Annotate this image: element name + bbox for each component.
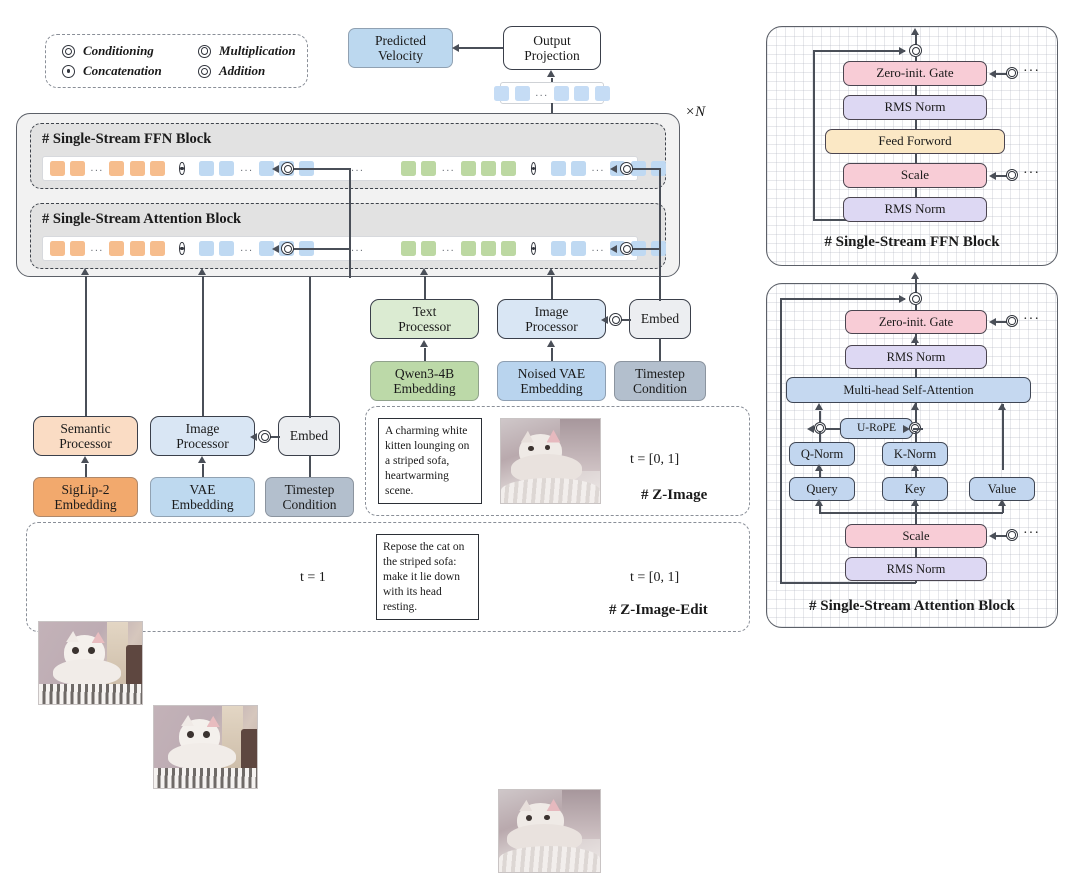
conditioning-symbol xyxy=(609,313,622,326)
ffn-residual-arrowhead xyxy=(899,47,906,55)
attn-rms-norm-top-label: RMS Norm xyxy=(887,350,946,364)
token xyxy=(571,161,586,176)
token-ellipsis: ... xyxy=(240,243,253,254)
token xyxy=(574,86,589,101)
token xyxy=(551,241,566,256)
legend-item-conditioning: Conditioning xyxy=(62,43,154,59)
concatenation-symbol xyxy=(62,65,75,78)
vae-line1: VAE xyxy=(189,482,215,497)
attn-arrow-rms-to-gate xyxy=(911,336,919,343)
conditioning-symbol xyxy=(281,162,294,175)
timestep-line1: Timestep xyxy=(635,366,685,381)
conditioning-symbol xyxy=(62,45,75,58)
attn-qkv-bus xyxy=(819,512,1003,514)
token xyxy=(481,241,496,256)
output-projection-line1: Output xyxy=(533,33,571,48)
line-noised-to-imgproc xyxy=(551,348,553,362)
token xyxy=(401,161,416,176)
line-siglip-to-semantic xyxy=(85,464,87,478)
token xyxy=(401,241,416,256)
attn-rms-norm-top: RMS Norm xyxy=(845,345,987,369)
attn-value-label: Value xyxy=(988,482,1016,496)
token xyxy=(50,161,65,176)
arrowhead-textproc xyxy=(420,268,428,275)
attn-urope-label: U-RoPE xyxy=(857,422,896,435)
text-processor-line1: Text xyxy=(413,304,437,319)
token-ellipsis: ... xyxy=(535,88,548,99)
z-image-output-photo xyxy=(500,418,601,504)
attn-v-to-mhsa xyxy=(1002,404,1004,470)
output-projection-box: Output Projection xyxy=(503,26,601,70)
ffn-zero-init-gate: Zero-init. Gate xyxy=(843,61,987,86)
siglip-embedding-box: SigLip-2 Embedding xyxy=(33,477,138,517)
z-image-edit-input-photo-1 xyxy=(38,621,143,705)
token xyxy=(70,241,85,256)
arrow-outproj-to-predvel-head xyxy=(452,44,459,52)
text-processor-box: Text Processor xyxy=(370,299,479,339)
token xyxy=(494,86,509,101)
token xyxy=(50,241,65,256)
attn-q-to-mhsa-arrowhead xyxy=(815,403,823,410)
legend-box: Conditioning Concatenation Multiplicatio… xyxy=(45,34,308,88)
ffn-feed-forward-label: Feed Forword xyxy=(878,134,951,149)
line-imageproc-to-blocks xyxy=(202,276,204,416)
arrowhead-imageproc xyxy=(198,268,206,275)
token-ellipsis: ... xyxy=(351,163,364,174)
attn-urope-left-arrowhead xyxy=(807,425,814,433)
attn-key-label: Key xyxy=(905,482,926,496)
token xyxy=(571,241,586,256)
qwen-line1: Qwen3-4B xyxy=(395,366,454,381)
line-semantic-to-blocks xyxy=(85,276,87,416)
z-image-edit-input-photo-2 xyxy=(153,705,258,789)
ffn-zero-init-gate-label: Zero-init. Gate xyxy=(876,66,953,81)
timestep2-line1: Timestep xyxy=(285,482,335,497)
conditioning-symbol xyxy=(1006,67,1018,79)
image-processor-line2: Processor xyxy=(525,319,578,334)
ffn-feed-forward: Feed Forword xyxy=(825,129,1005,154)
token xyxy=(150,161,165,176)
siglip-line1: SigLip-2 xyxy=(61,482,109,497)
token xyxy=(130,241,145,256)
attn-key-up-arrowhead xyxy=(911,464,919,471)
timestep2-line2: Condition xyxy=(282,497,336,512)
concatenation-symbol xyxy=(179,162,184,175)
ffn-rms-norm-bottom: RMS Norm xyxy=(843,197,987,222)
line-embed2-up xyxy=(309,277,311,418)
attn-qkv-q-arrowhead xyxy=(815,499,823,506)
token xyxy=(595,86,610,101)
attn-qkv-k-arrowhead xyxy=(911,499,919,506)
attn-query: Query xyxy=(789,477,855,501)
token xyxy=(501,161,516,176)
token xyxy=(199,241,214,256)
line-timestep-to-embed xyxy=(659,338,661,362)
attn-urope-left-line xyxy=(826,428,840,430)
semantic-processor-box: Semantic Processor xyxy=(33,416,138,456)
attn-residual-arrowhead xyxy=(899,295,906,303)
token-ellipsis: ... xyxy=(591,163,604,174)
attn-rms-norm-bottom: RMS Norm xyxy=(845,557,987,581)
arrowhead-embed-to-imgproc xyxy=(601,316,608,324)
token xyxy=(515,86,530,101)
ffn-block-title: # Single-Stream FFN Block xyxy=(42,131,211,148)
image-processor-box: Image Processor xyxy=(497,299,606,339)
ffn-rms-norm-top-label: RMS Norm xyxy=(884,100,945,115)
attn-scale-cond-dots: ··· xyxy=(1023,526,1040,542)
attn-qnorm-up xyxy=(819,432,821,443)
timestep-condition-box-top: Timestep Condition xyxy=(614,361,706,401)
qwen-line2: Embedding xyxy=(393,381,455,396)
cond-arrowhead-attn xyxy=(610,245,617,253)
ffn-scale: Scale xyxy=(843,163,987,188)
line-vae-to-imgproc2 xyxy=(202,464,204,478)
token xyxy=(551,161,566,176)
attn-query-label: Query xyxy=(806,482,837,496)
attn-out-arrowhead xyxy=(911,272,919,279)
output-projection-line2: Projection xyxy=(524,48,580,63)
conditioning-symbol xyxy=(1006,169,1018,181)
ffn-rms-norm-bottom-label: RMS Norm xyxy=(884,202,945,217)
legend-label-conditioning: Conditioning xyxy=(83,43,154,59)
z-image-edit-title: # Z-Image-Edit xyxy=(609,602,708,619)
cond-arrowhead-ffn-inner xyxy=(272,165,279,173)
line-qwen-to-textproc xyxy=(424,348,426,362)
addition-symbol xyxy=(198,65,211,78)
image-processor2-line2: Processor xyxy=(176,436,229,451)
z-image-edit-prompt-text: Repose the cat on the striped sofa: make… xyxy=(383,541,464,613)
arrowhead-noised xyxy=(547,340,555,347)
arrowhead-embed2 xyxy=(250,433,257,441)
z-image-edit-output-photo xyxy=(498,789,601,873)
z-image-edit-prompt-note: Repose the cat on the striped sofa: make… xyxy=(376,534,479,620)
token xyxy=(501,241,516,256)
arrowhead-siglip xyxy=(81,456,89,463)
legend-label-addition: Addition xyxy=(219,63,265,79)
attn-rms-norm-bottom-label: RMS Norm xyxy=(887,562,946,576)
ffn-gate-cond-dots: ··· xyxy=(1023,64,1040,80)
attn-knorm-up xyxy=(915,432,917,443)
semantic-line1: Semantic xyxy=(60,421,110,436)
ffn-gate-cond-arrowhead xyxy=(989,70,996,78)
token xyxy=(219,161,234,176)
conditioning-symbol xyxy=(281,242,294,255)
attn-residual-vertical xyxy=(780,298,782,583)
cond-line-attn-inner xyxy=(288,248,350,250)
attn-q-to-mhsa xyxy=(819,411,821,423)
multiplication-symbol xyxy=(198,45,211,58)
noised-vae-embedding-box: Noised VAE Embedding xyxy=(497,361,606,401)
token-ellipsis: ... xyxy=(591,243,604,254)
ffn-residual-top xyxy=(813,50,905,52)
ffn-residual-vertical xyxy=(813,50,815,220)
attn-k-to-mhsa-arrowhead xyxy=(911,403,919,410)
ffn-scale-cond-dots: ··· xyxy=(1023,166,1040,182)
attn-key: Key xyxy=(882,477,948,501)
token xyxy=(70,161,85,176)
embed-box-top: Embed xyxy=(629,299,691,339)
legend-item-addition: Addition xyxy=(198,63,265,79)
token xyxy=(199,161,214,176)
cond-inner-bus xyxy=(349,168,351,278)
z-image-prompt-text: A charming white kitten lounging on a st… xyxy=(385,425,469,497)
token-ellipsis: ... xyxy=(90,163,103,174)
z-image-prompt-note: A charming white kitten lounging on a st… xyxy=(378,418,482,504)
attn-q-norm-label: Q-Norm xyxy=(801,447,843,461)
concatenation-symbol xyxy=(531,162,536,175)
token xyxy=(481,161,496,176)
token-ellipsis: ... xyxy=(240,163,253,174)
token-ellipsis: ... xyxy=(90,243,103,254)
conditioning-symbol xyxy=(258,430,271,443)
vae-embedding-box: VAE Embedding xyxy=(150,477,255,517)
cond-line-ffn-inner xyxy=(288,168,350,170)
attn-q-norm: Q-Norm xyxy=(789,442,855,466)
attn-qkv-v-arrowhead xyxy=(998,499,1006,506)
attn-query-up-arrowhead xyxy=(815,464,823,471)
token-ellipsis: ... xyxy=(351,243,364,254)
arrowhead-tokens-to-outproj xyxy=(547,70,555,77)
attn-scale-label: Scale xyxy=(902,529,929,543)
attn-scale-cond-arrowhead xyxy=(989,532,996,540)
token-ellipsis: ... xyxy=(442,243,455,254)
legend-item-concatenation: Concatenation xyxy=(62,63,162,79)
line-timestep2-to-embed2 xyxy=(309,455,311,478)
line-imageproc2-to-blocks xyxy=(551,276,553,299)
token xyxy=(554,86,569,101)
attn-gate-cond-dots: ··· xyxy=(1023,312,1040,328)
token xyxy=(109,161,124,176)
cond-arrowhead-attn-inner xyxy=(272,245,279,253)
predicted-velocity-box: Predicted Velocity xyxy=(348,28,453,68)
legend-item-multiplication: Multiplication xyxy=(198,43,296,59)
z-image-title: # Z-Image xyxy=(641,487,707,504)
line-embed-up xyxy=(659,277,661,301)
token xyxy=(109,241,124,256)
attention-panel-title: # Single-Stream Attention Block xyxy=(766,595,1058,617)
attn-value: Value xyxy=(969,477,1035,501)
repeat-n-label: ×N xyxy=(685,104,705,121)
qwen-embedding-box: Qwen3-4B Embedding xyxy=(370,361,479,401)
attn-k-norm: K-Norm xyxy=(882,442,948,466)
predicted-velocity-line2: Velocity xyxy=(378,48,423,63)
embed-label-top: Embed xyxy=(641,311,679,326)
embed-box-bottom: Embed xyxy=(278,416,340,456)
ffn-scale-label: Scale xyxy=(901,168,929,183)
vae-line2: Embedding xyxy=(171,497,233,512)
image-processor2-line1: Image xyxy=(186,421,220,436)
legend-label-concatenation: Concatenation xyxy=(83,63,162,79)
token xyxy=(461,161,476,176)
ffn-out-arrowhead xyxy=(911,28,919,35)
attn-zero-init-gate-label: Zero-init. Gate xyxy=(879,315,953,329)
z-image-edit-t-label-1: t = 1 xyxy=(300,570,326,586)
arrowhead-semantic xyxy=(81,268,89,275)
attention-block-title: # Single-Stream Attention Block xyxy=(42,211,241,228)
output-token-strip: ... xyxy=(500,82,604,104)
token-ellipsis: ... xyxy=(442,163,455,174)
token xyxy=(219,241,234,256)
arrowhead-vae xyxy=(198,456,206,463)
arrowhead-qwen xyxy=(420,340,428,347)
conditioning-symbol xyxy=(1006,315,1018,327)
z-image-t-label: t = [0, 1] xyxy=(630,452,679,468)
timestep-condition-box-bottom: Timestep Condition xyxy=(265,477,354,517)
timestep-line2: Condition xyxy=(633,381,687,396)
ffn-panel-title: # Single-Stream FFN Block xyxy=(766,231,1058,253)
attn-residual-top xyxy=(780,298,905,300)
concatenation-symbol xyxy=(531,242,536,255)
ffn-scale-cond-arrowhead xyxy=(989,172,996,180)
arrowhead-imageproc2 xyxy=(547,268,555,275)
attn-k-norm-label: K-Norm xyxy=(894,447,936,461)
semantic-line2: Processor xyxy=(59,436,112,451)
conditioning-symbol xyxy=(620,162,633,175)
predicted-velocity-line1: Predicted xyxy=(375,33,426,48)
legend-label-multiplication: Multiplication xyxy=(219,43,296,59)
image-processor-box-lower: Image Processor xyxy=(150,416,255,456)
token xyxy=(421,161,436,176)
token xyxy=(150,241,165,256)
conditioning-symbol xyxy=(1006,529,1018,541)
text-processor-line2: Processor xyxy=(398,319,451,334)
siglip-line2: Embedding xyxy=(54,497,116,512)
attn-urope-right-arrowhead xyxy=(903,425,910,433)
concatenation-symbol xyxy=(179,242,184,255)
cond-arrowhead-ffn xyxy=(610,165,617,173)
attn-mhsa-label: Multi-head Self-Attention xyxy=(843,383,973,397)
attn-gate-cond-arrowhead xyxy=(989,318,996,326)
image-processor-line1: Image xyxy=(535,304,569,319)
attn-scale: Scale xyxy=(845,524,987,548)
embed-label-bottom: Embed xyxy=(290,428,328,443)
token xyxy=(130,161,145,176)
attn-mhsa: Multi-head Self-Attention xyxy=(786,377,1031,403)
noised-line2: Embedding xyxy=(520,381,582,396)
noised-line1: Noised VAE xyxy=(518,366,585,381)
conditioning-symbol xyxy=(620,242,633,255)
token xyxy=(461,241,476,256)
attn-v-to-mhsa-arrowhead xyxy=(998,403,1006,410)
z-image-edit-t-label-2: t = [0, 1] xyxy=(630,570,679,586)
ffn-rms-norm-top: RMS Norm xyxy=(843,95,987,120)
attn-urope-right-line xyxy=(913,428,923,430)
attn-zero-init-gate: Zero-init. Gate xyxy=(845,310,987,334)
arrow-outproj-to-predvel-line xyxy=(458,47,503,49)
line-textproc-to-blocks xyxy=(424,276,426,299)
attn-residual-bottom xyxy=(780,582,916,584)
token xyxy=(421,241,436,256)
